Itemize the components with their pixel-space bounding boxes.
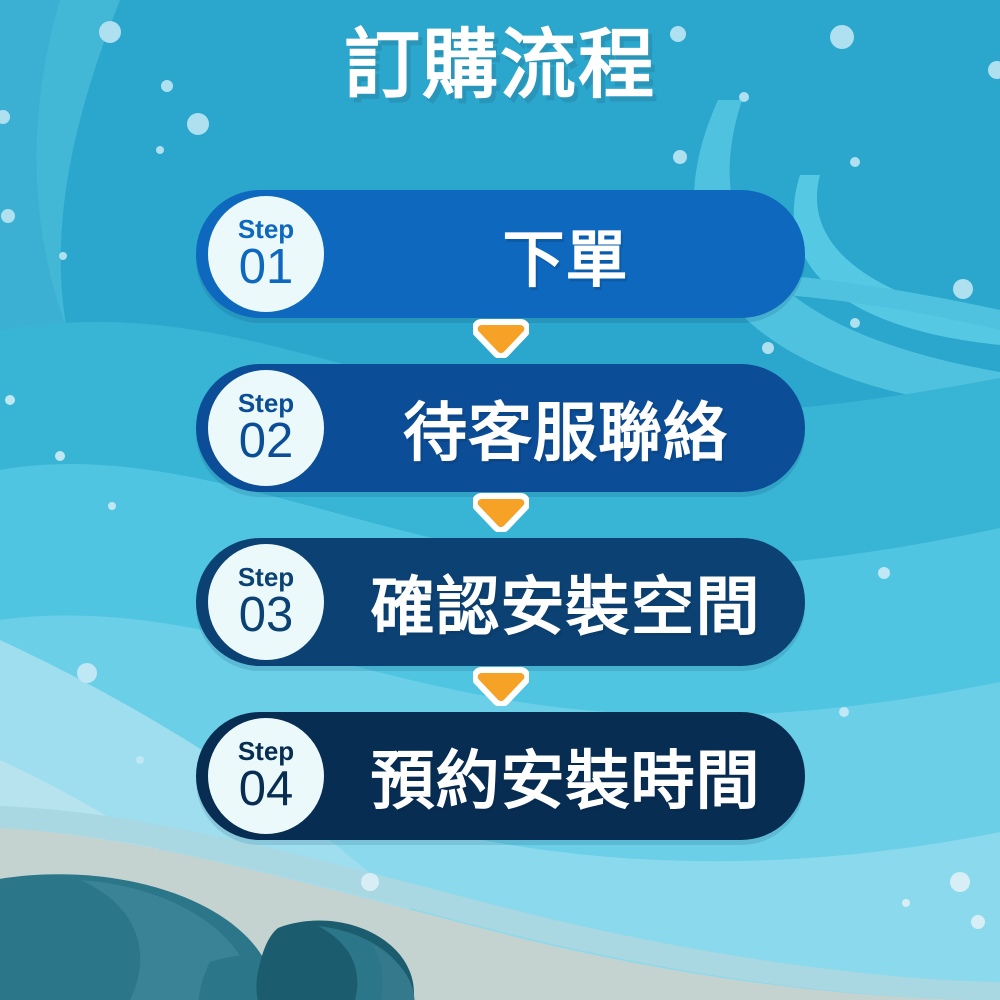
bubble bbox=[878, 567, 890, 579]
bubble bbox=[902, 899, 910, 907]
step-badge-number-04: 04 bbox=[239, 765, 294, 814]
step-label-03: 確認安裝空間 bbox=[336, 538, 795, 666]
down-arrow-icon bbox=[473, 666, 529, 706]
page-title: 訂購流程 bbox=[0, 26, 1000, 106]
step-label-01: 下單 bbox=[336, 190, 795, 318]
bubble bbox=[839, 707, 849, 717]
bubble bbox=[5, 395, 15, 405]
order-process-infographic: 訂購流程 Step 01 下單 Step 02 待客服聯絡 bbox=[0, 0, 1000, 1000]
step-item-01[interactable]: Step 01 下單 bbox=[196, 190, 805, 318]
step-label-02: 待客服聯絡 bbox=[336, 364, 795, 492]
down-arrow-icon bbox=[473, 492, 529, 532]
bubble bbox=[77, 663, 97, 683]
step-badge-word-02: Step bbox=[238, 390, 294, 416]
step-badge-word-03: Step bbox=[238, 564, 294, 590]
step-badge-number-01: 01 bbox=[239, 243, 294, 292]
bubble bbox=[953, 279, 973, 299]
step-badge-number-03: 03 bbox=[239, 591, 294, 640]
bubble bbox=[361, 873, 379, 891]
bubble bbox=[187, 113, 209, 135]
step-badge-03: Step 03 bbox=[208, 544, 324, 660]
step-badge-01: Step 01 bbox=[208, 196, 324, 312]
bubble bbox=[950, 872, 970, 892]
step-item-02[interactable]: Step 02 待客服聯絡 bbox=[196, 364, 805, 492]
step-label-04: 預約安裝時間 bbox=[336, 712, 795, 840]
step-badge-number-02: 02 bbox=[239, 417, 294, 466]
step-badge-04: Step 04 bbox=[208, 718, 324, 834]
bubble bbox=[136, 756, 144, 764]
bubble bbox=[971, 915, 985, 929]
step-badge-02: Step 02 bbox=[208, 370, 324, 486]
bubble bbox=[850, 318, 860, 328]
step-list: Step 01 下單 Step 02 待客服聯絡 Step bbox=[196, 190, 805, 840]
step-badge-word-04: Step bbox=[238, 738, 294, 764]
bubble bbox=[108, 502, 116, 510]
bubble bbox=[850, 157, 860, 167]
down-arrow-icon bbox=[473, 318, 529, 358]
bubble bbox=[156, 146, 164, 154]
bubble bbox=[673, 150, 687, 164]
bubble bbox=[1, 209, 15, 223]
step-item-04[interactable]: Step 04 預約安裝時間 bbox=[196, 712, 805, 840]
bubble bbox=[59, 252, 67, 260]
bubble bbox=[55, 451, 65, 461]
step-item-03[interactable]: Step 03 確認安裝空間 bbox=[196, 538, 805, 666]
step-badge-word-01: Step bbox=[238, 216, 294, 242]
